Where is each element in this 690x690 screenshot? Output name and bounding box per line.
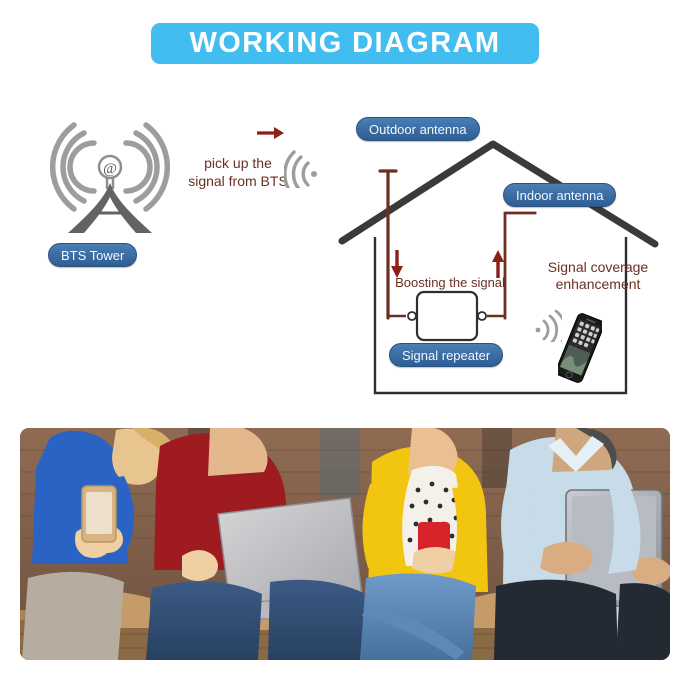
signal-repeater-label: Signal repeater — [389, 343, 503, 367]
signal-repeater-label-text: Signal repeater — [402, 348, 490, 363]
bts-tower-label: BTS Tower — [48, 243, 137, 267]
smartphone-icon — [558, 312, 602, 384]
downlink-arrow — [391, 250, 403, 278]
coverage-caption-line2: enhancement — [524, 276, 672, 293]
outdoor-antenna-label-text: Outdoor antenna — [369, 122, 467, 137]
indoor-antenna-label: Indoor antenna — [503, 183, 616, 207]
indoor-antenna-label-text: Indoor antenna — [516, 188, 603, 203]
signal-waves-icon — [284, 150, 318, 188]
uplink-arrow — [492, 250, 504, 278]
lifestyle-photo — [20, 428, 670, 660]
boosting-the-signal-caption: Boosting the signal — [390, 275, 510, 290]
bts-tower-label-text: BTS Tower — [61, 248, 124, 263]
bts-tower-icon: @ — [50, 113, 170, 243]
coverage-caption-line1: Signal coverage — [524, 259, 672, 276]
outdoor-antenna-label: Outdoor antenna — [356, 117, 480, 141]
svg-text:@: @ — [103, 161, 117, 177]
signal-coverage-caption: Signal coverage enhancement — [524, 259, 672, 293]
page-title-banner: WORKING DIAGRAM — [151, 23, 539, 64]
page-title: WORKING DIAGRAM — [190, 27, 501, 60]
page-root: WORKING DIAGRAM @ BTS Tower — [0, 0, 690, 690]
pickup-direction-arrow — [255, 124, 285, 142]
